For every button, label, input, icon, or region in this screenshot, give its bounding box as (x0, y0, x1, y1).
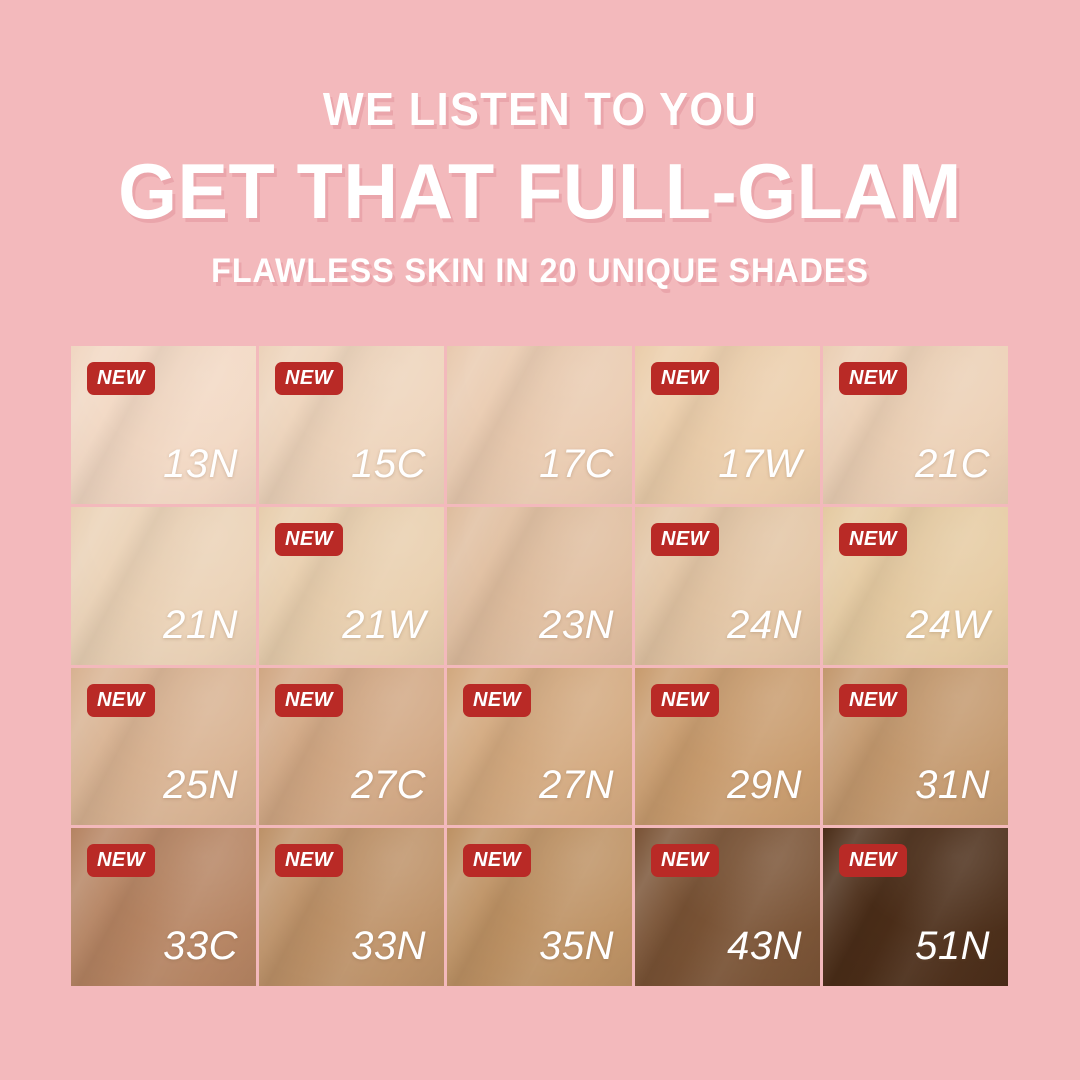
shade-code-label: 21W (342, 605, 426, 645)
shade-swatch[interactable]: NEW27C (259, 668, 444, 826)
new-badge: NEW (463, 844, 531, 877)
shade-swatch[interactable]: NEW43N (635, 828, 820, 986)
shade-range-promo: WE LISTEN TO YOU GET THAT FULL-GLAM FLAW… (0, 0, 1080, 1080)
shade-swatch-grid: NEW13NNEW15CNEW17CNEW17WNEW21CNEW21NNEW2… (71, 346, 1008, 986)
shade-code-label: 35N (539, 926, 614, 966)
shade-swatch[interactable]: NEW13N (71, 346, 256, 504)
shade-code-label: 27N (539, 765, 614, 805)
shade-code-label: 24W (906, 605, 990, 645)
new-badge: NEW (839, 523, 907, 556)
new-badge: NEW (275, 523, 343, 556)
shade-code-label: 15C (351, 444, 426, 484)
shade-code-label: 24N (727, 605, 802, 645)
shade-swatch[interactable]: NEW29N (635, 668, 820, 826)
shade-code-label: 51N (915, 926, 990, 966)
shade-code-label: 43N (727, 926, 802, 966)
new-badge: NEW (87, 362, 155, 395)
shade-code-label: 21N (163, 605, 238, 645)
new-badge: NEW (275, 844, 343, 877)
shade-code-label: 17C (539, 444, 614, 484)
new-badge: NEW (87, 684, 155, 717)
shade-swatch[interactable]: NEW21N (71, 507, 256, 665)
shade-code-label: 23N (539, 605, 614, 645)
shade-code-label: 27C (351, 765, 426, 805)
heading-eyebrow: WE LISTEN TO YOU (32, 86, 1047, 132)
shade-code-label: 33N (351, 926, 426, 966)
new-badge: NEW (651, 362, 719, 395)
heading-main: GET THAT FULL-GLAM (16, 152, 1064, 230)
new-badge: NEW (651, 684, 719, 717)
shade-swatch[interactable]: NEW33C (71, 828, 256, 986)
shade-swatch[interactable]: NEW23N (447, 507, 632, 665)
new-badge: NEW (463, 684, 531, 717)
new-badge: NEW (275, 362, 343, 395)
shade-swatch[interactable]: NEW24W (823, 507, 1008, 665)
shade-swatch[interactable]: NEW33N (259, 828, 444, 986)
shade-swatch[interactable]: NEW25N (71, 668, 256, 826)
shade-swatch[interactable]: NEW51N (823, 828, 1008, 986)
shade-swatch[interactable]: NEW27N (447, 668, 632, 826)
shade-swatch[interactable]: NEW15C (259, 346, 444, 504)
shade-swatch[interactable]: NEW24N (635, 507, 820, 665)
shade-code-label: 17W (718, 444, 802, 484)
new-badge: NEW (87, 844, 155, 877)
shade-code-label: 31N (915, 765, 990, 805)
shade-code-label: 21C (915, 444, 990, 484)
new-badge: NEW (839, 684, 907, 717)
new-badge: NEW (651, 523, 719, 556)
new-badge: NEW (839, 362, 907, 395)
shade-code-label: 29N (727, 765, 802, 805)
shade-code-label: 33C (163, 926, 238, 966)
shade-swatch[interactable]: NEW17C (447, 346, 632, 504)
shade-swatch[interactable]: NEW31N (823, 668, 1008, 826)
shade-swatch[interactable]: NEW21W (259, 507, 444, 665)
new-badge: NEW (839, 844, 907, 877)
new-badge: NEW (275, 684, 343, 717)
shade-swatch[interactable]: NEW35N (447, 828, 632, 986)
heading-block: WE LISTEN TO YOU GET THAT FULL-GLAM FLAW… (0, 0, 1080, 288)
shade-swatch[interactable]: NEW17W (635, 346, 820, 504)
shade-swatch[interactable]: NEW21C (823, 346, 1008, 504)
heading-sub: FLAWLESS SKIN IN 20 UNIQUE SHADES (27, 254, 1053, 288)
shade-code-label: 25N (163, 765, 238, 805)
new-badge: NEW (651, 844, 719, 877)
shade-code-label: 13N (163, 444, 238, 484)
